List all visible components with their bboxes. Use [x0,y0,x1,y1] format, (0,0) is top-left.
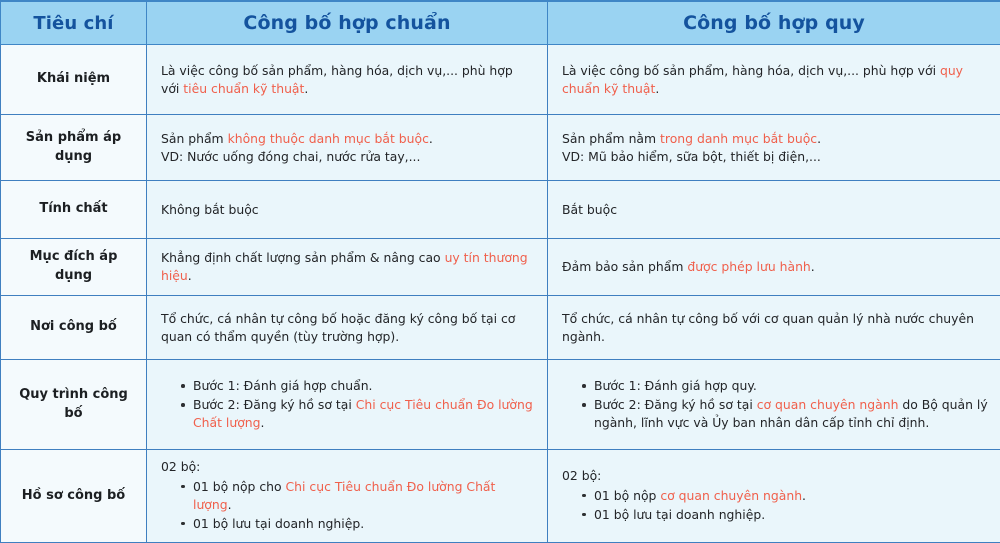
cell-lead-text: 02 bộ: [562,467,988,485]
cell-regulation: Bước 1: Đánh giá hợp quy.Bước 2: Đăng ký… [548,360,1000,450]
comparison-table: Tiêu chí Công bố hợp chuẩn Công bố hợp q… [0,0,1000,543]
row-criteria-label: Mục đích áp dụng [1,239,147,296]
cell-line: Không bắt buộc [161,201,535,219]
list-item: Bước 2: Đăng ký hồ sơ tại cơ quan chuyên… [582,396,988,432]
cell-standard: Bước 1: Đánh giá hợp chuẩn.Bước 2: Đăng … [147,360,548,450]
cell-line: Sản phẩm không thuộc danh mục bắt buộc. [161,130,535,148]
table-row: Khái niệmLà việc công bố sản phẩm, hàng … [1,45,1000,115]
body-text: Bước 1: Đánh giá hợp chuẩn. [193,378,373,393]
column-header-criteria: Tiêu chí [1,1,147,45]
body-text: . [228,497,232,512]
bullet-list: 01 bộ nộp cho Chi cục Tiêu chuẩn Đo lườn… [161,478,535,533]
body-text: Tổ chức, cá nhân tự công bố hoặc đăng ký… [161,311,515,344]
body-text: Không bắt buộc [161,202,259,217]
body-text: Đảm bảo sản phẩm [562,259,687,274]
bullet-list: Bước 1: Đánh giá hợp chuẩn.Bước 2: Đăng … [161,377,535,432]
body-text: Bước 2: Đăng ký hồ sơ tại [193,397,356,412]
list-item: Bước 2: Đăng ký hồ sơ tại Chi cục Tiêu c… [181,396,535,432]
cell-line: Đảm bảo sản phẩm được phép lưu hành. [562,258,988,276]
list-item: Bước 1: Đánh giá hợp quy. [582,377,988,395]
body-text: . [802,488,806,503]
cell-line: Sản phẩm nằm trong danh mục bắt buộc. [562,130,988,148]
table-row: Tính chấtKhông bắt buộcBắt buộc [1,181,1000,239]
highlight-text: cơ quan chuyên ngành [660,488,802,503]
table-row: Nơi công bốTổ chức, cá nhân tự công bố h… [1,296,1000,360]
column-header-standard: Công bố hợp chuẩn [147,1,548,45]
table-row: Sản phẩm áp dụngSản phẩm không thuộc dan… [1,115,1000,181]
list-item: 01 bộ lưu tại doanh nghiệp. [582,506,988,524]
list-item: 01 bộ nộp cho Chi cục Tiêu chuẩn Đo lườn… [181,478,535,514]
table-row: Mục đích áp dụngKhẳng định chất lượng sả… [1,239,1000,296]
body-text: 01 bộ nộp [594,488,660,503]
cell-line: Tổ chức, cá nhân tự công bố với cơ quan … [562,310,988,346]
cell-regulation: Bắt buộc [548,181,1000,239]
cell-regulation: Là việc công bố sản phẩm, hàng hóa, dịch… [548,45,1000,115]
highlight-text: tiêu chuẩn kỹ thuật [183,81,304,96]
comparison-table-container: Tiêu chí Công bố hợp chuẩn Công bố hợp q… [0,0,1000,418]
cell-regulation: Đảm bảo sản phẩm được phép lưu hành. [548,239,1000,296]
cell-line: Là việc công bố sản phẩm, hàng hóa, dịch… [562,62,988,98]
table-row: Quy trình công bốBước 1: Đánh giá hợp ch… [1,360,1000,450]
body-text: . [429,131,433,146]
row-criteria-label: Nơi công bố [1,296,147,360]
cell-line: Là việc công bố sản phẩm, hàng hóa, dịch… [161,62,535,98]
highlight-text: cơ quan chuyên ngành [757,397,899,412]
highlight-text: trong danh mục bắt buộc [660,131,817,146]
list-item: 01 bộ nộp cơ quan chuyên ngành. [582,487,988,505]
cell-line: VD: Nước uống đóng chai, nước rửa tay,..… [161,148,535,166]
body-text: Bước 2: Đăng ký hồ sơ tại [594,397,757,412]
cell-line: Khẳng định chất lượng sản phẩm & nâng ca… [161,249,535,285]
cell-line: VD: Mũ bảo hiểm, sữa bột, thiết bị điện,… [562,148,988,166]
row-criteria-label: Khái niệm [1,45,147,115]
list-item: Bước 1: Đánh giá hợp chuẩn. [181,377,535,395]
body-text: . [811,259,815,274]
body-text: Sản phẩm nằm [562,131,660,146]
row-criteria-label: Quy trình công bố [1,360,147,450]
row-criteria-label: Tính chất [1,181,147,239]
table-row: Hồ sơ công bố02 bộ:01 bộ nộp cho Chi cục… [1,450,1000,543]
body-text: 01 bộ lưu tại doanh nghiệp. [594,507,765,522]
body-text: Sản phẩm [161,131,228,146]
body-text: . [655,81,659,96]
cell-line: Bắt buộc [562,201,988,219]
cell-line: Tổ chức, cá nhân tự công bố hoặc đăng ký… [161,310,535,346]
cell-standard: 02 bộ:01 bộ nộp cho Chi cục Tiêu chuẩn Đ… [147,450,548,543]
body-text: . [304,81,308,96]
cell-standard: Khẳng định chất lượng sản phẩm & nâng ca… [147,239,548,296]
body-text: . [188,268,192,283]
column-header-regulation: Công bố hợp quy [548,1,1000,45]
body-text: Bắt buộc [562,202,617,217]
bullet-list: Bước 1: Đánh giá hợp quy.Bước 2: Đăng ký… [562,377,988,432]
table-header-row: Tiêu chí Công bố hợp chuẩn Công bố hợp q… [1,1,1000,45]
cell-lead-text: 02 bộ: [161,458,535,476]
body-text: Bước 1: Đánh giá hợp quy. [594,378,757,393]
row-criteria-label: Sản phẩm áp dụng [1,115,147,181]
body-text: 01 bộ nộp cho [193,479,286,494]
body-text: Khẳng định chất lượng sản phẩm & nâng ca… [161,250,445,265]
table-header: Tiêu chí Công bố hợp chuẩn Công bố hợp q… [1,1,1000,45]
table-body: Khái niệmLà việc công bố sản phẩm, hàng … [1,45,1000,543]
body-text: VD: Mũ bảo hiểm, sữa bột, thiết bị điện,… [562,149,821,164]
list-item: 01 bộ lưu tại doanh nghiệp. [181,515,535,533]
body-text: 01 bộ lưu tại doanh nghiệp. [193,516,364,531]
cell-regulation: 02 bộ:01 bộ nộp cơ quan chuyên ngành.01 … [548,450,1000,543]
bullet-list: 01 bộ nộp cơ quan chuyên ngành.01 bộ lưu… [562,487,988,524]
cell-standard: Là việc công bố sản phẩm, hàng hóa, dịch… [147,45,548,115]
body-text: Tổ chức, cá nhân tự công bố với cơ quan … [562,311,974,344]
cell-standard: Không bắt buộc [147,181,548,239]
cell-standard: Tổ chức, cá nhân tự công bố hoặc đăng ký… [147,296,548,360]
body-text: . [817,131,821,146]
body-text: VD: Nước uống đóng chai, nước rửa tay,..… [161,149,420,164]
highlight-text: không thuộc danh mục bắt buộc [228,131,429,146]
cell-standard: Sản phẩm không thuộc danh mục bắt buộc.V… [147,115,548,181]
highlight-text: được phép lưu hành [687,259,810,274]
body-text: Là việc công bố sản phẩm, hàng hóa, dịch… [562,63,940,78]
cell-regulation: Sản phẩm nằm trong danh mục bắt buộc.VD:… [548,115,1000,181]
row-criteria-label: Hồ sơ công bố [1,450,147,543]
body-text: . [261,415,265,430]
cell-regulation: Tổ chức, cá nhân tự công bố với cơ quan … [548,296,1000,360]
